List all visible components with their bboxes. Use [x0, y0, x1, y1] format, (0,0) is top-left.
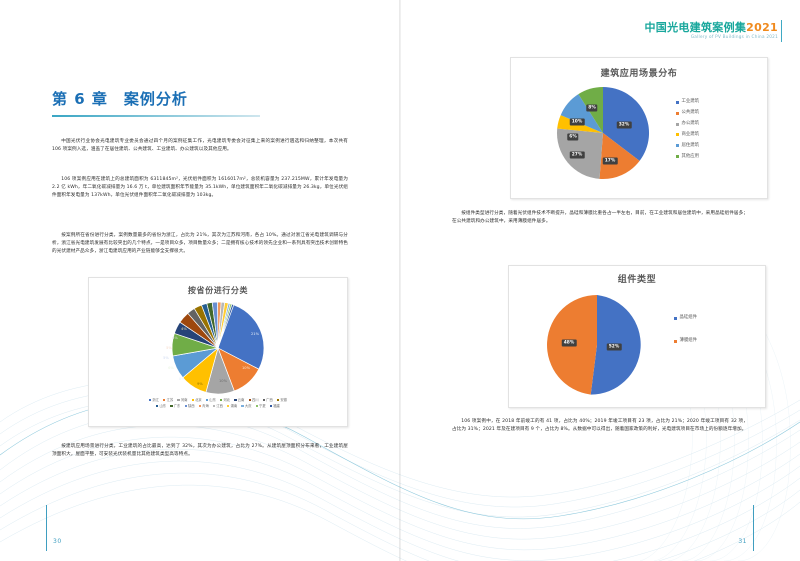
legend-item[interactable]: 办公建筑: [676, 122, 699, 126]
legend-swatch: [676, 123, 679, 126]
legend-label: 安徽: [280, 398, 287, 402]
chapter-underline: [52, 115, 260, 117]
legend-label: 广东: [174, 404, 181, 408]
chart-card-scenario: 建筑应用场景分布: [510, 57, 768, 199]
chapter-heading: 第 6 章 案例分析: [52, 88, 260, 117]
pie-label-scenario-5: 8%: [586, 105, 597, 112]
paragraph-province-analysis: 按案例所在省份进行分类，案例数量最多的省份为浙江，占比为 21%，其次为江苏和河…: [52, 232, 348, 256]
legend-item[interactable]: 工业建筑: [676, 100, 699, 104]
chart-title-province: 按省份进行分类: [89, 285, 347, 296]
legend-item[interactable]: 江西: [213, 404, 223, 410]
paragraph-completion-year: 106 项案例中，在 2018 年前竣工的有 41 项，占比为 40%；2019…: [452, 418, 748, 434]
pie-scenario-svg: [511, 79, 767, 184]
pie-label-scenario-0: 32%: [617, 122, 632, 129]
legend-swatch: [185, 405, 187, 407]
chart-legend-province: 浙江 江苏 河南 北京 山东 河北 云南 四川 广西 安徽 山东 广东 陕西 青…: [89, 398, 347, 410]
legend-label: 云南: [238, 398, 245, 402]
pie-label-module-1: 48%: [562, 340, 577, 347]
legend-label: 居住建筑: [682, 144, 700, 148]
legend-swatch: [674, 340, 677, 343]
legend-label: 河南: [181, 398, 188, 402]
legend-item[interactable]: 商业建筑: [676, 133, 699, 137]
chart-card-province: 按省份进行分类: [88, 277, 348, 427]
legend-label: 江苏: [167, 398, 174, 402]
legend-label: 浙江: [152, 398, 159, 402]
legend-swatch: [277, 399, 279, 401]
paragraph-intro: 中国光伏行业协会光电建筑专业委员会通过四个月的案例征集工作，光电建筑专委会对征集…: [52, 138, 348, 154]
page-number-right: 31: [738, 538, 747, 545]
legend-swatch: [199, 405, 201, 407]
legend-label: 四川: [252, 398, 259, 402]
legend-label: 办公建筑: [682, 122, 700, 126]
legend-swatch: [220, 399, 222, 401]
legend-swatch: [676, 155, 679, 158]
header-title-en: Gallery of PV Buildings in China 2021: [644, 35, 778, 39]
legend-label: 其他应用: [682, 155, 700, 159]
legend-swatch: [674, 317, 677, 320]
pie-province-svg: [89, 296, 347, 396]
legend-swatch: [149, 399, 151, 401]
pie-label-province-9: 4%: [181, 327, 187, 331]
legend-label: 江西: [216, 404, 223, 408]
legend-swatch: [676, 112, 679, 115]
legend-label: 青海: [202, 404, 209, 408]
pie-label-province-2: 10%: [219, 379, 227, 383]
legend-label: 宁夏: [259, 404, 266, 408]
legend-swatch: [676, 144, 679, 147]
header-title-year: 2021: [746, 21, 778, 34]
pie-label-module-0: 52%: [607, 344, 622, 351]
pie-label-province-0: 21%: [251, 332, 259, 336]
pie-label-province-4: 8%: [179, 377, 185, 381]
legend-swatch: [227, 405, 229, 407]
legend-label: 湖南: [231, 404, 238, 408]
legend-item[interactable]: 福建: [270, 404, 280, 410]
paragraph-statistics: 106 项案例应用在建筑上的总建筑面积为 6311845m²，光伏组件面积为 1…: [52, 176, 348, 200]
chart-card-module-type: 组件类型 52% 48% 晶硅组件 薄膜组件: [508, 265, 766, 408]
pie-module-type: 52% 48%: [509, 285, 765, 403]
chart-legend-module-type: 晶硅组件 薄膜组件: [674, 316, 697, 363]
paragraph-scenario-analysis: 按建筑应用场景进行分类，工业建筑的占比最高，达到了 32%，其次为办公建筑，占比…: [52, 443, 348, 459]
legend-swatch: [249, 399, 251, 401]
pie-label-scenario-4: 10%: [570, 119, 585, 126]
legend-label: 河北: [224, 398, 231, 402]
left-page: 第 6 章 案例分析 中国光伏行业协会光电建筑专业委员会通过四个月的案例征集工作…: [0, 0, 400, 561]
legend-swatch: [241, 405, 243, 407]
legend-swatch: [676, 133, 679, 136]
legend-swatch: [177, 399, 179, 401]
chart-legend-scenario: 工业建筑 公共建筑 办公建筑 商业建筑 居住建筑 其他应用: [676, 100, 699, 165]
pie-label-province-7: 5%: [166, 346, 172, 350]
paragraph-module-type: 按组件类型进行分类，随着光伏组件技术不断提升，晶硅和薄膜比重各占一半左右，目前，…: [452, 210, 748, 226]
legend-item[interactable]: 晶硅组件: [674, 316, 697, 320]
pie-label-province-5: 6%: [168, 366, 174, 370]
chart-title-scenario: 建筑应用场景分布: [511, 66, 767, 79]
legend-item[interactable]: 居住建筑: [676, 144, 699, 148]
legend-label: 北京: [195, 398, 202, 402]
legend-label: 公共建筑: [682, 111, 700, 115]
legend-swatch: [170, 405, 172, 407]
legend-swatch: [256, 405, 258, 407]
header-divider: [781, 20, 782, 42]
legend-swatch: [163, 399, 165, 401]
legend-swatch: [192, 399, 194, 401]
page-spread: 第 6 章 案例分析 中国光伏行业协会光电建筑专业委员会通过四个月的案例征集工作…: [0, 0, 800, 561]
legend-label: 晶硅组件: [680, 316, 698, 320]
right-page: 中国光电建筑案例集2021 Gallery of PV Buildings in…: [400, 0, 800, 561]
legend-item[interactable]: 公共建筑: [676, 111, 699, 115]
pie-module-type-svg: [509, 285, 765, 403]
pie-label-province-1: 10%: [242, 366, 250, 370]
legend-label: 山东: [160, 404, 167, 408]
legend-label: 商业建筑: [682, 133, 700, 137]
legend-swatch: [156, 405, 158, 407]
legend-item[interactable]: 青海: [199, 404, 209, 410]
header-title-cn: 中国光电建筑案例集2021: [644, 22, 778, 34]
pie-label-scenario-3: 6%: [567, 134, 578, 141]
legend-item[interactable]: 薄膜组件: [674, 339, 697, 343]
legend-item[interactable]: 宁夏: [256, 404, 266, 410]
pie-label-scenario-2: 27%: [570, 152, 585, 159]
legend-swatch: [263, 399, 265, 401]
legend-item[interactable]: 其他应用: [676, 155, 699, 159]
page-number-rule-right: [753, 505, 754, 551]
legend-item[interactable]: 陕西: [185, 404, 195, 410]
legend-label: 广西: [266, 398, 273, 402]
page-title: 第 6 章 案例分析: [52, 88, 260, 109]
legend-row-2: 山东 广东 陕西 青海 江西 湖南 大庆 宁夏 福建: [89, 404, 347, 410]
legend-label: 山东: [209, 398, 216, 402]
pie-label-scenario-1: 17%: [603, 158, 618, 165]
legend-swatch: [234, 399, 236, 401]
legend-item[interactable]: 广东: [170, 404, 180, 410]
pie-label-province-3: 9%: [197, 382, 203, 386]
legend-label: 工业建筑: [682, 100, 700, 104]
legend-swatch: [270, 405, 272, 407]
legend-swatch: [206, 399, 208, 401]
pie-scenario: 32% 17% 27% 6% 10% 8%: [511, 79, 767, 184]
chart-title-module-type: 组件类型: [509, 272, 765, 285]
pie-label-province-8: 4%: [172, 336, 178, 340]
legend-swatch: [676, 101, 679, 104]
pie-province: 21% 10% 10% 9% 8% 6% 5% 5% 4% 4%: [89, 296, 347, 396]
legend-label: 陕西: [188, 404, 195, 408]
legend-item[interactable]: 湖南: [227, 404, 237, 410]
legend-label: 福建: [273, 404, 280, 408]
running-header: 中国光电建筑案例集2021 Gallery of PV Buildings in…: [644, 22, 778, 39]
page-number-left: 30: [53, 538, 62, 545]
legend-item[interactable]: 大庆: [241, 404, 251, 410]
legend-swatch: [213, 405, 215, 407]
header-title-text: 中国光电建筑案例集: [644, 21, 746, 34]
legend-label: 大庆: [245, 404, 252, 408]
page-number-rule-left: [46, 505, 47, 551]
legend-label: 薄膜组件: [680, 339, 698, 343]
legend-item[interactable]: 山东: [156, 404, 166, 410]
pie-label-province-6: 5%: [163, 356, 169, 360]
